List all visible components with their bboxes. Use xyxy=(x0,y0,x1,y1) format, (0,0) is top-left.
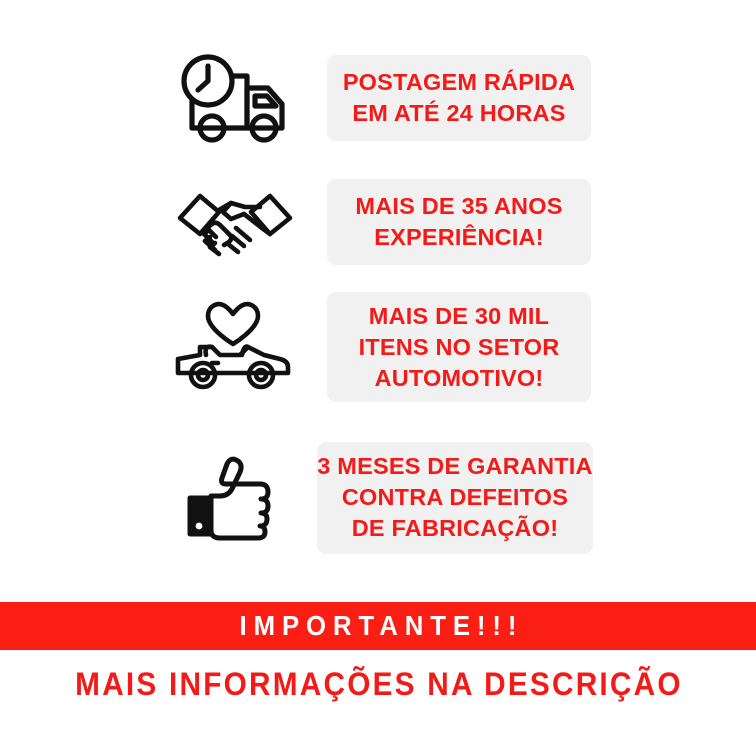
feature-line: AUTOMOTIVO! xyxy=(375,363,544,394)
feature-row-experience: MAIS DE 35 ANOS EXPERIÊNCIA! xyxy=(165,172,605,272)
thumbs-up-icon xyxy=(165,440,305,555)
feature-line: DE FABRICAÇÃO! xyxy=(352,513,558,544)
feature-row-catalog: MAIS DE 30 MIL ITENS NO SETOR AUTOMOTIVO… xyxy=(160,288,605,406)
feature-text-box-warranty: 3 MESES DE GARANTIA CONTRA DEFEITOS DE F… xyxy=(317,442,593,554)
feature-line: EM ATÉ 24 HORAS xyxy=(352,98,565,129)
footer-note: MAIS INFORMAÇÕES NA DESCRIÇÃO xyxy=(0,660,756,708)
car-heart-icon xyxy=(160,292,305,402)
feature-line: CONTRA DEFEITOS xyxy=(342,482,568,513)
feature-line: MAIS DE 35 ANOS xyxy=(355,191,562,222)
feature-text-box-shipping: POSTAGEM RÁPIDA EM ATÉ 24 HORAS xyxy=(327,55,591,141)
feature-list: POSTAGEM RÁPIDA EM ATÉ 24 HORAS xyxy=(0,0,756,595)
feature-text-box-experience: MAIS DE 35 ANOS EXPERIÊNCIA! xyxy=(327,179,591,265)
feature-line: POSTAGEM RÁPIDA xyxy=(343,67,575,98)
feature-line: ITENS NO SETOR xyxy=(359,332,560,363)
feature-text-box-catalog: MAIS DE 30 MIL ITENS NO SETOR AUTOMOTIVO… xyxy=(327,292,591,402)
important-banner-text: IMPORTANTE!!! xyxy=(233,610,524,642)
important-banner: IMPORTANTE!!! xyxy=(0,602,756,650)
feature-line: MAIS DE 30 MIL xyxy=(369,301,549,332)
delivery-truck-clock-icon xyxy=(165,48,305,148)
handshake-icon xyxy=(165,175,305,270)
feature-row-warranty: 3 MESES DE GARANTIA CONTRA DEFEITOS DE F… xyxy=(165,435,605,560)
footer-note-text: MAIS INFORMAÇÕES NA DESCRIÇÃO xyxy=(73,666,683,703)
feature-line: EXPERIÊNCIA! xyxy=(374,222,544,253)
feature-row-shipping: POSTAGEM RÁPIDA EM ATÉ 24 HORAS xyxy=(165,45,605,150)
promo-banner-page: POSTAGEM RÁPIDA EM ATÉ 24 HORAS xyxy=(0,0,756,756)
feature-line: 3 MESES DE GARANTIA xyxy=(317,451,592,482)
